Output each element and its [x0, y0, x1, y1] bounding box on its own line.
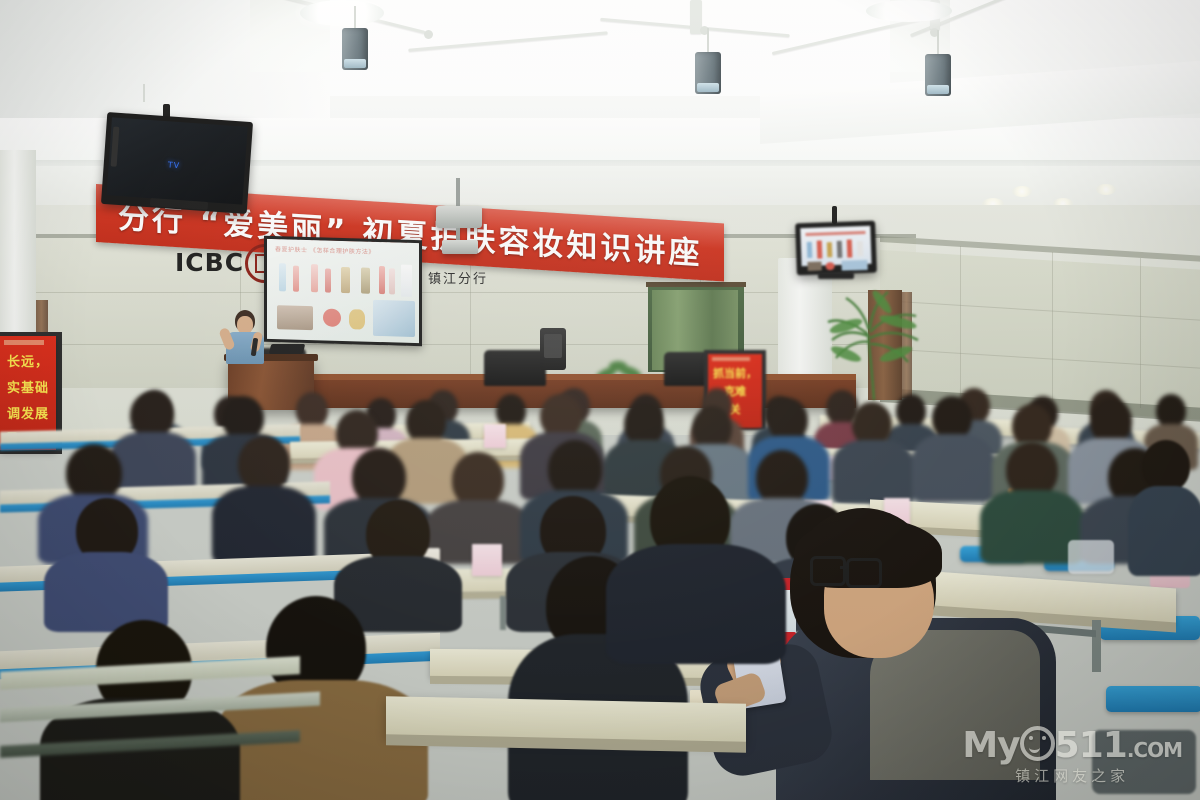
window-frame-top: [646, 282, 746, 287]
poster-header-strip: [712, 357, 750, 361]
pendant-lamp: [695, 52, 721, 94]
watermark-com: .COM: [1127, 738, 1182, 762]
watermark-line1: My511.COM: [962, 726, 1182, 764]
wall-mounted-tv-left[interactable]: TV: [101, 112, 253, 214]
eyeglasses-right: [846, 558, 882, 588]
pendant-wire: [937, 30, 939, 56]
watermark: My511.COM 镇江网友之家: [962, 726, 1182, 786]
pendant-lamp: [925, 54, 951, 96]
ceiling-spoke-node: [424, 30, 433, 39]
eyeglasses-left: [810, 556, 846, 586]
projector-lens-housing: [442, 240, 478, 254]
loudspeaker-grille: [544, 334, 562, 358]
pendant-wire: [354, 6, 356, 30]
ceiling-projector: [436, 206, 482, 228]
photo-scene: 分行 “爱美丽” 初夏护肤容妆知识讲座 ICBC 镇江分行 TV 春夏护: [0, 0, 1200, 800]
projector-pole: [456, 178, 460, 208]
watermark-my: My: [962, 725, 1019, 766]
wall-mounted-tv-right[interactable]: [795, 221, 877, 276]
eyeglasses-bridge: [840, 566, 848, 569]
tv-right-screen: [800, 226, 871, 266]
ceiling-downlight: [1012, 186, 1032, 197]
desk-leg: [1092, 620, 1101, 672]
pendant-lamp: [342, 28, 368, 70]
presenter: [222, 310, 268, 364]
poster-header-strip: [4, 340, 44, 345]
icbc-logo-text: ICBC: [175, 248, 244, 277]
tv-left-logo: TV: [168, 160, 181, 170]
attendee-behind: [590, 476, 800, 656]
ceiling-ring-light: [300, 0, 384, 26]
wall-panel-seam: [960, 246, 961, 396]
watermark-line2: 镇江网友之家: [962, 765, 1182, 786]
right-poster-line-1: 抓当前，: [708, 368, 762, 380]
projection-screen: 春夏护肤士 《怎样合理护肤方法》: [264, 236, 422, 346]
attendee-right-edge: [1128, 440, 1200, 570]
watermark-511: 511: [1055, 725, 1127, 766]
seat-cushion: [1106, 686, 1200, 712]
smiley-icon: [1020, 726, 1055, 761]
ceiling-downlight: [1096, 184, 1116, 195]
pendant-wire: [707, 28, 709, 54]
branch-name-text: 镇江分行: [428, 268, 488, 287]
tv-right-base: [818, 272, 854, 279]
pendant-wire: [143, 84, 145, 102]
ceiling-ring-light: [866, 0, 952, 22]
podium-laptop[interactable]: [269, 344, 305, 354]
screen-glare: [267, 239, 419, 343]
left-poster-line-1: 长远，: [0, 356, 56, 371]
